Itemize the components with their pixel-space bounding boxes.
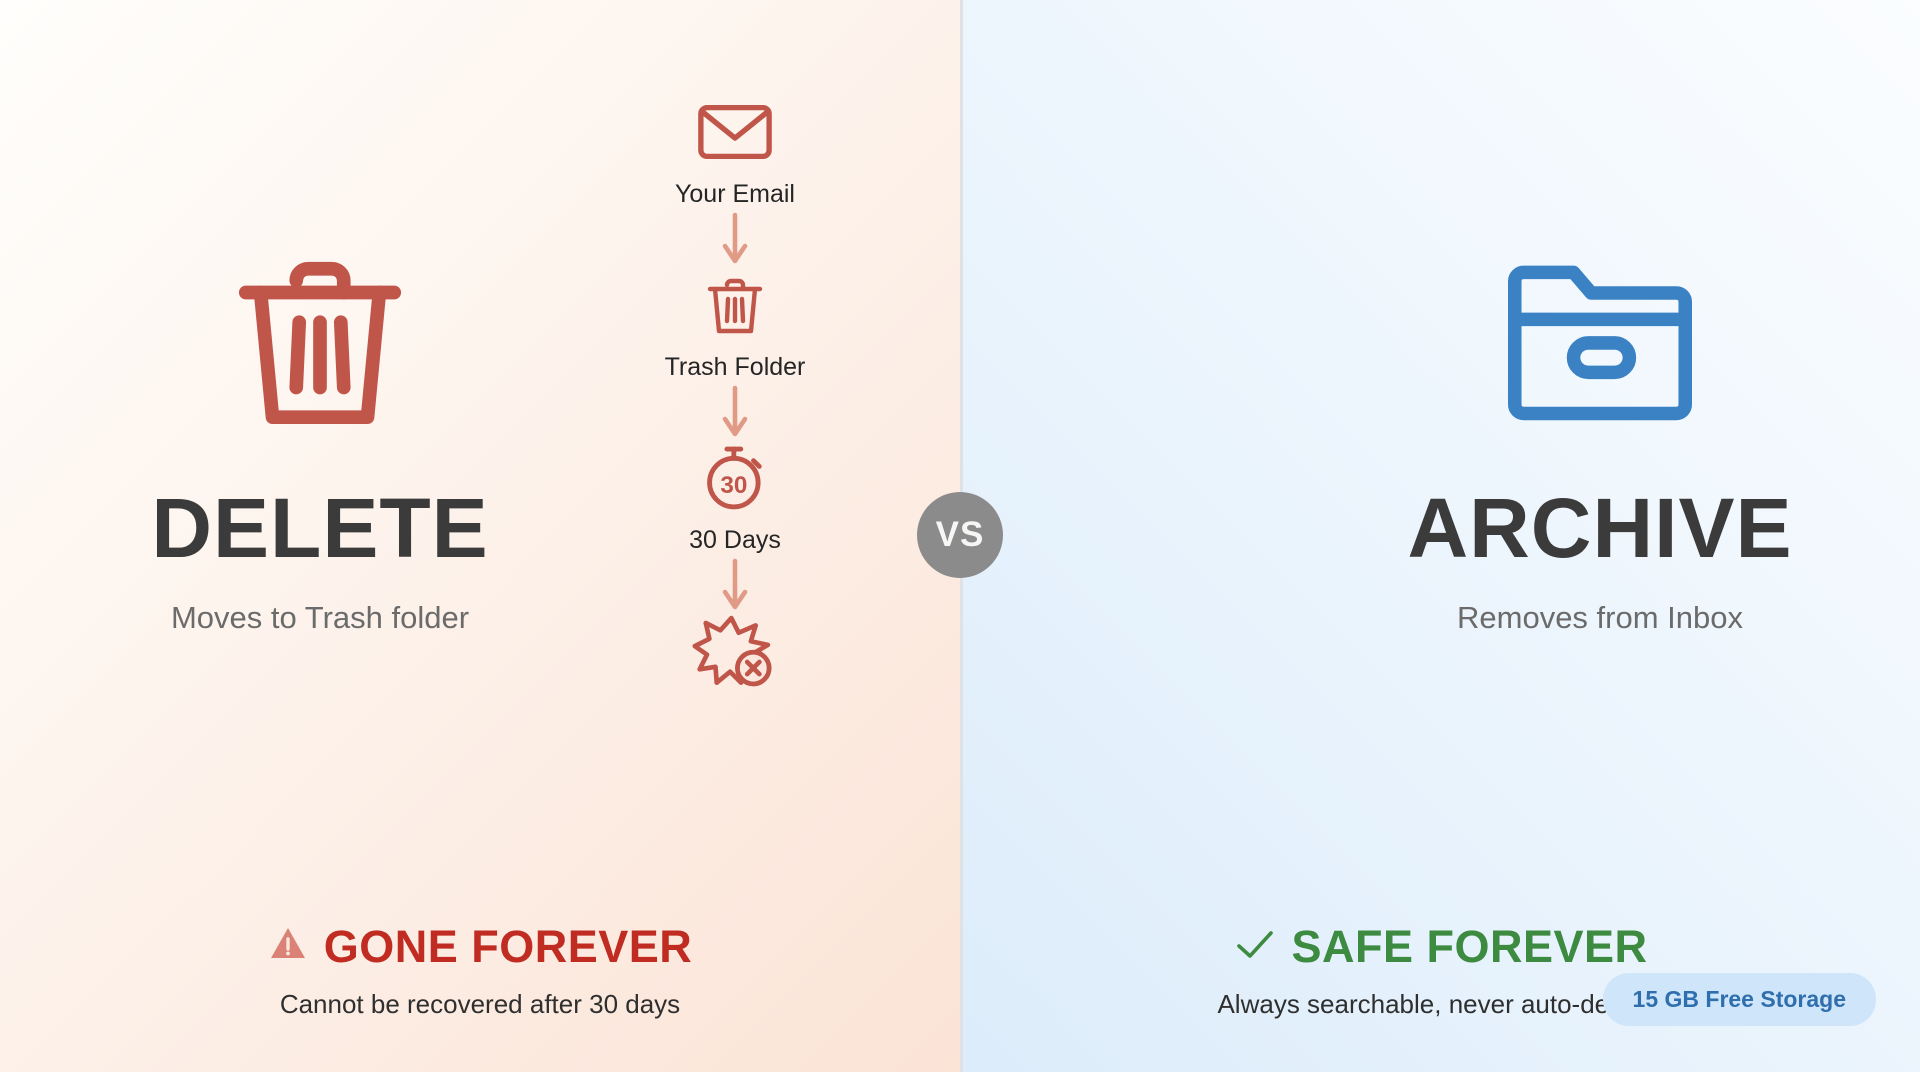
delete-flow-label-30days: 30 Days bbox=[689, 526, 781, 555]
archive-subtitle: Removes from Inbox bbox=[1390, 600, 1810, 636]
delete-title: DELETE bbox=[110, 486, 530, 570]
delete-subtitle: Moves to Trash folder bbox=[110, 600, 530, 636]
delete-flow-step-30days: 30 30 Days bbox=[689, 442, 781, 555]
delete-hero: DELETE Moves to Trash folder bbox=[110, 240, 530, 636]
explosion-x-icon bbox=[692, 615, 778, 687]
archive-folder-icon bbox=[1390, 240, 1810, 440]
delete-panel: DELETE Moves to Trash folder Your Email bbox=[0, 0, 960, 1072]
delete-verdict-headline: GONE FOREVER bbox=[324, 924, 693, 969]
delete-arrow-3 bbox=[718, 555, 752, 615]
delete-flow: Your Email bbox=[585, 96, 885, 687]
archive-title: ARCHIVE bbox=[1390, 486, 1810, 570]
archive-verdict-headline-row: SAFE FOREVER bbox=[963, 924, 1920, 969]
envelope-icon bbox=[696, 96, 774, 168]
check-mark-icon bbox=[1235, 924, 1275, 969]
delete-flow-step-trash: Trash Folder bbox=[665, 269, 806, 382]
trash-can-icon bbox=[703, 269, 767, 341]
delete-flow-label-trash: Trash Folder bbox=[665, 353, 806, 382]
storage-badge: 15 GB Free Storage bbox=[1603, 973, 1876, 1026]
warning-triangle-icon bbox=[268, 924, 308, 969]
archive-panel: ARCHIVE Removes from Inbox Your Email bbox=[960, 0, 1920, 1072]
archive-verdict-headline: SAFE FOREVER bbox=[1291, 924, 1647, 969]
delete-flow-step-destroyed bbox=[692, 615, 778, 687]
stopwatch-icon: 30 bbox=[698, 442, 772, 514]
delete-arrow-2 bbox=[718, 382, 752, 442]
delete-verdict-subtext: Cannot be recovered after 30 days bbox=[0, 989, 960, 1020]
stopwatch-badge-value: 30 bbox=[720, 472, 747, 499]
delete-flow-step-email: Your Email bbox=[675, 96, 795, 209]
vs-badge: VS bbox=[917, 492, 1003, 578]
delete-verdict: GONE FOREVER Cannot be recovered after 3… bbox=[0, 924, 960, 1020]
delete-verdict-headline-row: GONE FOREVER bbox=[0, 924, 960, 969]
trash-can-icon bbox=[110, 240, 530, 440]
delete-vs-archive-infographic: DELETE Moves to Trash folder Your Email bbox=[0, 0, 1920, 1072]
archive-hero: ARCHIVE Removes from Inbox bbox=[1390, 240, 1810, 636]
delete-arrow-1 bbox=[718, 209, 752, 269]
delete-flow-label-email: Your Email bbox=[675, 180, 795, 209]
